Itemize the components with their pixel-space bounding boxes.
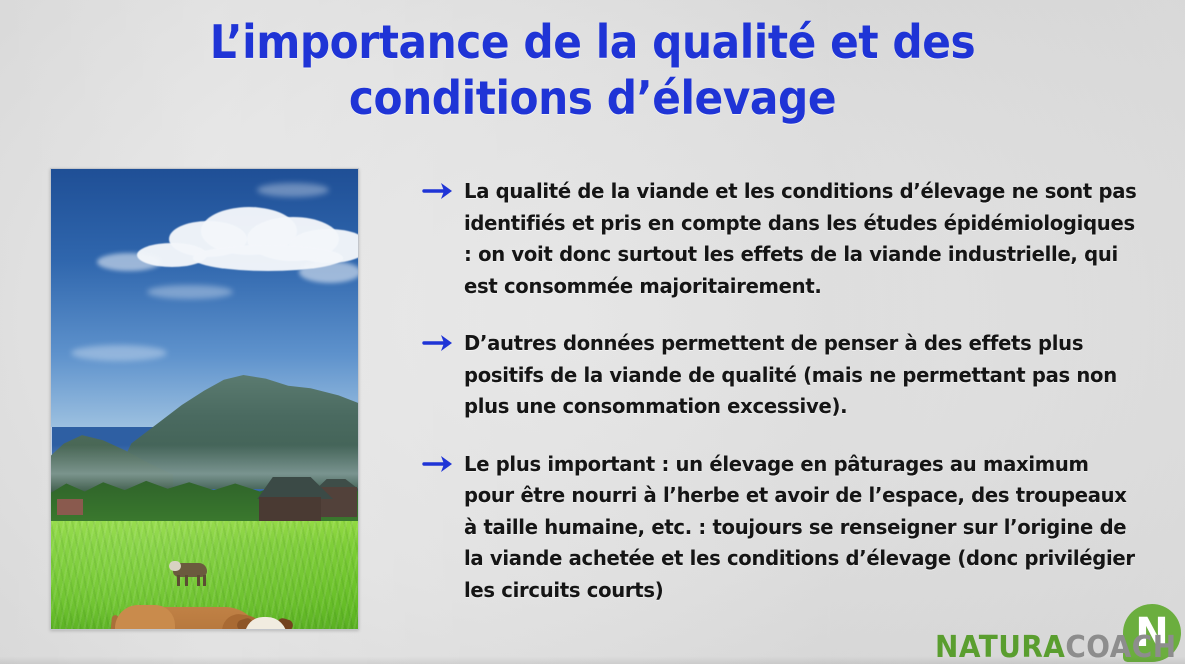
presentation-slide: L’importance de la qualité et des condit… <box>0 0 1185 664</box>
cloud-icon <box>147 285 233 299</box>
arrow-right-icon <box>422 328 464 354</box>
farm-barn <box>247 477 333 521</box>
photo-content <box>51 169 358 629</box>
barn-body <box>259 497 321 521</box>
cow-background-head <box>169 561 181 571</box>
slide-title: L’importance de la qualité et des condit… <box>47 14 1137 126</box>
cow-background-leg <box>177 575 180 586</box>
logo-word-primary: NATURA <box>935 630 1065 664</box>
pasture-photo <box>50 168 359 630</box>
bullet-text: La qualité de la viande et les condition… <box>464 176 1142 302</box>
arrow-right-icon <box>422 449 464 475</box>
naturacoach-logo: N NATURACOACH <box>935 604 1185 664</box>
logo-word-secondary: COACH <box>1065 630 1176 664</box>
cow-background-leg <box>197 575 200 586</box>
cow-foreground <box>95 599 291 629</box>
cow-background <box>169 561 213 587</box>
cloud-icon <box>97 253 161 271</box>
bullet-item: D’autres données permettent de penser à … <box>422 328 1174 423</box>
cloud-icon <box>257 183 329 197</box>
bullet-item: La qualité de la viande et les condition… <box>422 176 1174 302</box>
farmhouse-small <box>57 499 83 515</box>
cow-background-leg <box>185 575 188 586</box>
bullet-text: Le plus important : un élevage en pâtura… <box>464 449 1142 607</box>
bullet-text: D’autres données permettent de penser à … <box>464 328 1142 423</box>
barn-roof <box>247 477 333 499</box>
cow-shoulder <box>115 605 175 629</box>
arrow-right-icon <box>422 176 464 202</box>
bullet-item: Le plus important : un élevage en pâtura… <box>422 449 1174 607</box>
slide-title-line-2: conditions d’élevage <box>47 70 1137 126</box>
logo-wordmark: NATURACOACH <box>935 632 1177 664</box>
cloud-icon <box>299 261 358 283</box>
cow-background-leg <box>203 575 206 586</box>
bullet-list: La qualité de la viande et les condition… <box>422 176 1174 606</box>
slide-title-line-1: L’importance de la qualité et des <box>210 15 975 69</box>
